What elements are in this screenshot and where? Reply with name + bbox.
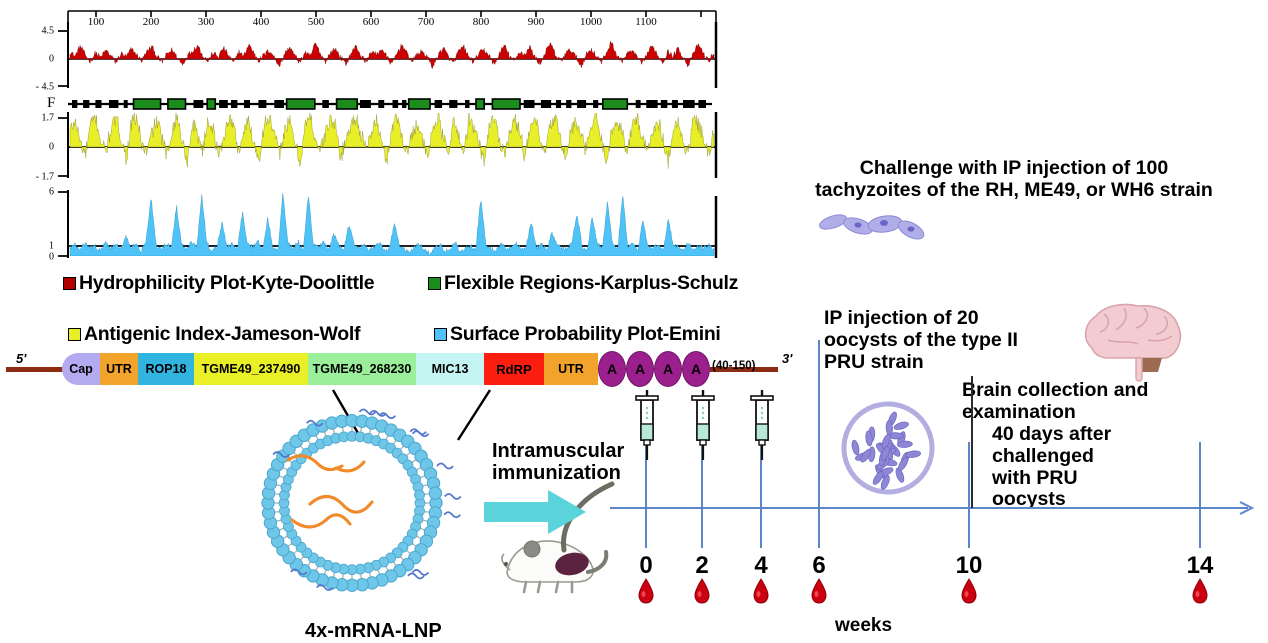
timeline-week-4: 4 [754, 552, 767, 580]
rigid-region-box [566, 100, 571, 108]
x-tick-700: 700 [418, 16, 435, 28]
x-tick-600: 600 [363, 16, 380, 28]
rigid-region-box [402, 100, 406, 108]
lipid-head [429, 487, 441, 499]
rigid-region-box [244, 100, 250, 108]
rigid-region-box [435, 100, 443, 108]
flexible-region-box [337, 99, 358, 109]
plots-svg [0, 0, 740, 270]
x-tick-300: 300 [198, 16, 215, 28]
rigid-region-box [593, 100, 598, 108]
legend-swatch-flexible-regions [428, 277, 441, 290]
rigid-region-box [541, 100, 551, 108]
rigid-region-box [258, 100, 266, 108]
rigid-region-box [274, 100, 284, 108]
peg-chain [445, 494, 461, 499]
x-tick-200: 200 [143, 16, 160, 28]
rigid-region-box [661, 100, 668, 108]
legend-label-hydrophilicity: Hydrophilicity Plot-Kyte-Doolittle [79, 272, 374, 295]
rigid-region-box [378, 100, 384, 108]
weeks-axis-label: weeks [835, 615, 892, 637]
blood-drop-week-2 [693, 578, 711, 609]
rigid-region-box [95, 100, 101, 108]
x-tick-800: 800 [473, 16, 490, 28]
y-label-ant-zero: 0 [10, 142, 54, 153]
lipid-head-inner [415, 490, 425, 500]
syringe-icon-week-0 [632, 390, 662, 475]
flexible-region-box [207, 99, 215, 109]
blood-drop-week-4 [752, 578, 770, 609]
peg-chain [444, 512, 460, 517]
legend-swatch-antigenic-index [68, 328, 81, 341]
rigid-region-box [194, 100, 204, 108]
five-prime-line [6, 367, 64, 372]
y-label-hyd-max: 4.5 [10, 26, 54, 37]
x-tick-500: 500 [308, 16, 325, 28]
rigid-region-box [72, 100, 77, 108]
construct-segment-utr: UTR [100, 353, 138, 385]
cyan-arrow-icon [482, 486, 612, 544]
flexible-region-box [492, 99, 520, 109]
legend-item-antigenic-index: Antigenic Index-Jameson-Wolf [68, 323, 360, 346]
flexible-region-box [603, 99, 628, 109]
rigid-region-box [83, 100, 89, 108]
syringe-icon-week-2 [688, 390, 718, 475]
figure-root: 10020030040050060070080090010001100 4.5 … [0, 0, 1268, 643]
blood-drop-week-14 [1191, 578, 1209, 609]
rigid-region-box [646, 100, 657, 108]
x-axis [68, 11, 716, 22]
y-label-hyd-min: - 4.5 [10, 82, 54, 93]
timeline: 02461014 weeks [600, 280, 1268, 643]
blood-drop-week-6 [810, 578, 828, 609]
x-tick-1000: 1000 [580, 16, 602, 28]
y-label-srf-zero: 0 [10, 252, 54, 263]
legend-label-antigenic-index: Antigenic Index-Jameson-Wolf [84, 323, 360, 346]
blood-drop-week-10 [960, 578, 978, 609]
rigid-region-box [577, 100, 586, 108]
legend-item-hydrophilicity: Hydrophilicity Plot-Kyte-Doolittle [63, 272, 374, 295]
five-prime-label: 5' [16, 351, 26, 366]
timeline-week-10: 10 [956, 552, 983, 580]
rigid-region-box [219, 100, 228, 108]
flexible-band-label: F [47, 95, 55, 112]
rigid-region-box [449, 100, 457, 108]
flexible-region-box [287, 99, 315, 109]
panel-antigenic-index [58, 111, 716, 178]
flexible-regions-band [68, 99, 712, 109]
tachyzoites-icon [818, 208, 928, 252]
protein-analysis-plots: 10020030040050060070080090010001100 4.5 … [0, 0, 740, 270]
mrna-strand-3 [292, 515, 350, 527]
rigid-region-box [109, 100, 118, 108]
syringe-icon-week-4 [747, 390, 777, 475]
rigid-region-box [465, 100, 470, 108]
panel-surface-probability [58, 190, 716, 258]
x-tick-900: 900 [528, 16, 545, 28]
y-label-srf-one: 1 [10, 241, 54, 252]
peg-chain [437, 464, 453, 469]
rigid-region-box [683, 100, 695, 108]
timeline-week-2: 2 [695, 552, 708, 580]
rigid-region-box [231, 100, 237, 108]
legend-swatch-hydrophilicity [63, 277, 76, 290]
y-label-ant-min: - 1.7 [10, 172, 54, 183]
rigid-region-box [672, 100, 678, 108]
rigid-region-box [124, 100, 128, 108]
lnp-label: 4x-mRNA-LNP [305, 620, 442, 643]
mrna-strand-2 [310, 496, 372, 512]
flexible-region-box [476, 99, 484, 109]
construct-segment-mic13: MIC13 [416, 353, 484, 385]
y-label-ant-max: 1.7 [10, 113, 54, 124]
rigid-region-box [322, 100, 329, 108]
rigid-region-box [360, 100, 371, 108]
rigid-region-box [524, 100, 535, 108]
legend-swatch-surface-probability [434, 328, 447, 341]
construct-segment-utr: UTR [544, 353, 598, 385]
challenge-annotation: Challenge with IP injection of 100 tachy… [766, 158, 1262, 202]
construct-segment-tgme49-268230: TGME49_268230 [308, 353, 416, 385]
rigid-region-box [636, 100, 641, 108]
flexible-region-box [168, 99, 186, 109]
lipid-nanoparticle [232, 408, 472, 598]
y-label-hyd-zero: 0 [10, 54, 54, 65]
rigid-region-box [393, 100, 399, 108]
blood-drop-week-0 [637, 578, 655, 609]
construct-segment-tgme49-237490: TGME49_237490 [194, 353, 308, 385]
construct-segment-rop18: ROP18 [138, 353, 194, 385]
construct-segment-rdrp: RdRP [484, 353, 544, 385]
x-tick-1100: 1100 [635, 16, 657, 28]
rigid-region-box [698, 100, 706, 108]
flexible-region-box [409, 99, 430, 109]
x-tick-100: 100 [88, 16, 105, 28]
panel-hydrophilicity [58, 22, 716, 88]
timeline-week-6: 6 [812, 552, 825, 580]
timeline-week-0: 0 [639, 552, 652, 580]
timeline-week-14: 14 [1187, 552, 1214, 580]
construct-segment-cap: Cap [62, 353, 100, 385]
flexible-region-box [134, 99, 161, 109]
x-tick-400: 400 [253, 16, 270, 28]
rigid-region-box [556, 100, 561, 108]
y-label-srf-max: 6 [10, 187, 54, 198]
